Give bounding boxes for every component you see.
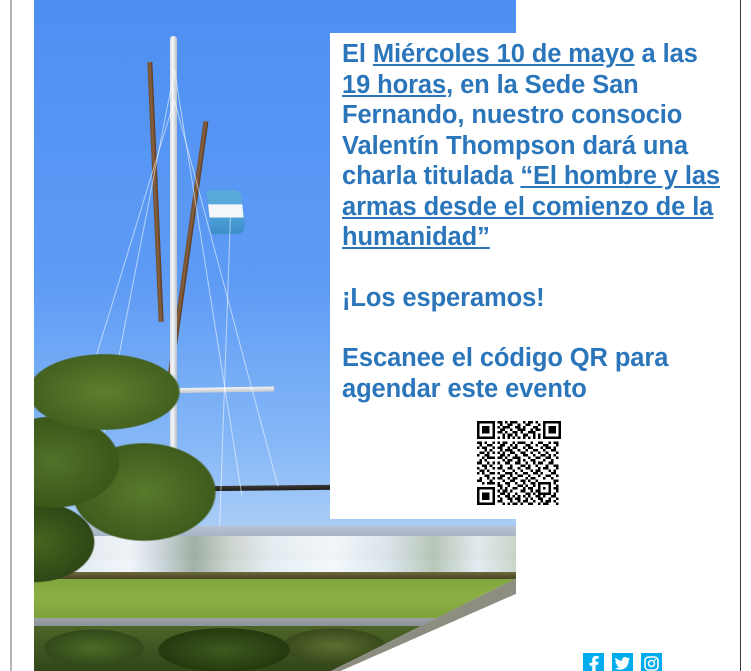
page-right-edge-rule xyxy=(740,0,741,671)
social-links xyxy=(583,653,662,671)
argentine-flag xyxy=(207,190,246,234)
qr-instruction: Escanee el código QR para agendar este e… xyxy=(342,343,724,404)
line-prefix: El xyxy=(342,40,373,68)
instagram-icon[interactable] xyxy=(641,653,662,671)
qr-code[interactable] xyxy=(474,418,564,508)
page-gutter-rule xyxy=(10,0,12,671)
flyer-page: El Miércoles 10 de mayo a las 19 horas, … xyxy=(0,0,751,671)
twitter-icon[interactable] xyxy=(612,653,633,671)
announcement-panel: El Miércoles 10 de mayo a las 19 horas, … xyxy=(330,33,740,519)
event-time: 19 horas xyxy=(342,71,446,99)
qr-code-image[interactable] xyxy=(477,421,561,505)
line-mid: a las xyxy=(635,40,698,68)
copy-spacer-2 xyxy=(342,313,724,343)
facebook-icon[interactable] xyxy=(583,653,604,671)
closing-line: ¡Los esperamos! xyxy=(342,283,724,314)
copy-spacer-1 xyxy=(342,253,724,283)
tree-canopy-left xyxy=(34,352,244,602)
announcement-copy: El Miércoles 10 de mayo a las 19 horas, … xyxy=(342,39,724,404)
foreground-garden xyxy=(34,626,516,671)
announcement-paragraph: El Miércoles 10 de mayo a las 19 horas, … xyxy=(342,39,724,253)
event-date: Miércoles 10 de mayo xyxy=(373,40,635,68)
